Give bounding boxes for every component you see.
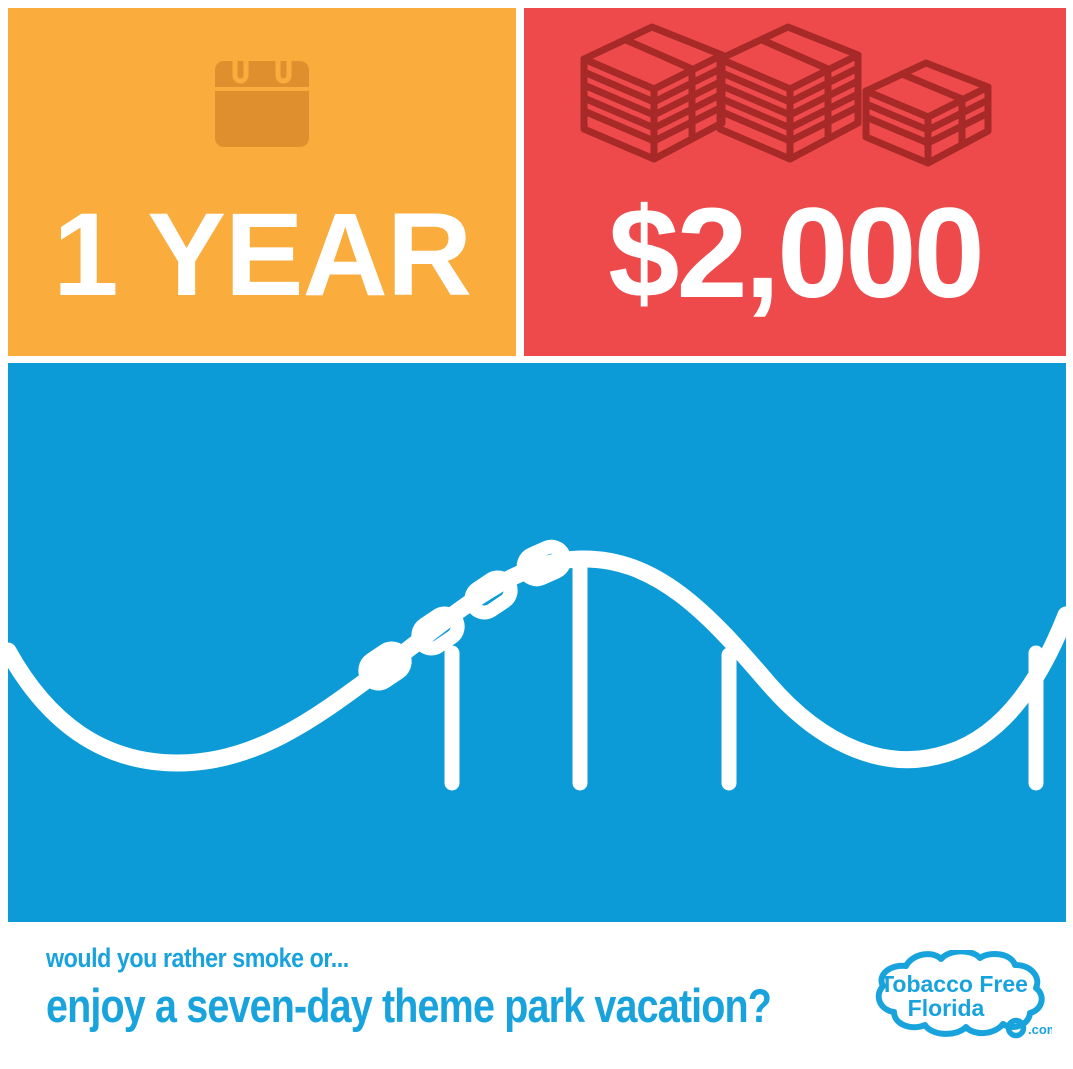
cloud-logo-icon: Tobacco Free Florida .com bbox=[866, 950, 1052, 1042]
panel-two-thousand: $2,000 bbox=[524, 8, 1066, 356]
coaster-track bbox=[8, 559, 1066, 763]
stat-two-thousand: $2,000 bbox=[524, 190, 1066, 318]
stat-one-year: 1 YEAR bbox=[8, 196, 516, 314]
cash-stacks-icon bbox=[580, 19, 1010, 179]
poster-canvas: 1 YEAR bbox=[0, 0, 1073, 1069]
panel-roller-coaster bbox=[8, 363, 1066, 922]
calendar-icon bbox=[207, 43, 317, 155]
panel-one-year: 1 YEAR bbox=[8, 8, 516, 356]
calendar-icon-zone bbox=[8, 8, 516, 190]
roller-coaster-icon bbox=[8, 363, 1066, 922]
logo-line-1: Tobacco Free bbox=[880, 971, 1028, 997]
tagline-big: enjoy a seven-day theme park vacation? bbox=[46, 981, 718, 1030]
tobacco-free-florida-logo[interactable]: Tobacco Free Florida .com bbox=[866, 950, 1052, 1042]
tagline-small: would you rather smoke or... bbox=[46, 944, 734, 972]
logo-suffix: .com bbox=[1028, 1022, 1052, 1037]
footer-bar: would you rather smoke or... enjoy a sev… bbox=[0, 922, 1073, 1069]
cash-stacks-icon-zone bbox=[524, 8, 1066, 190]
tagline-block: would you rather smoke or... enjoy a sev… bbox=[46, 944, 846, 1031]
logo-line-2: Florida bbox=[908, 995, 985, 1021]
